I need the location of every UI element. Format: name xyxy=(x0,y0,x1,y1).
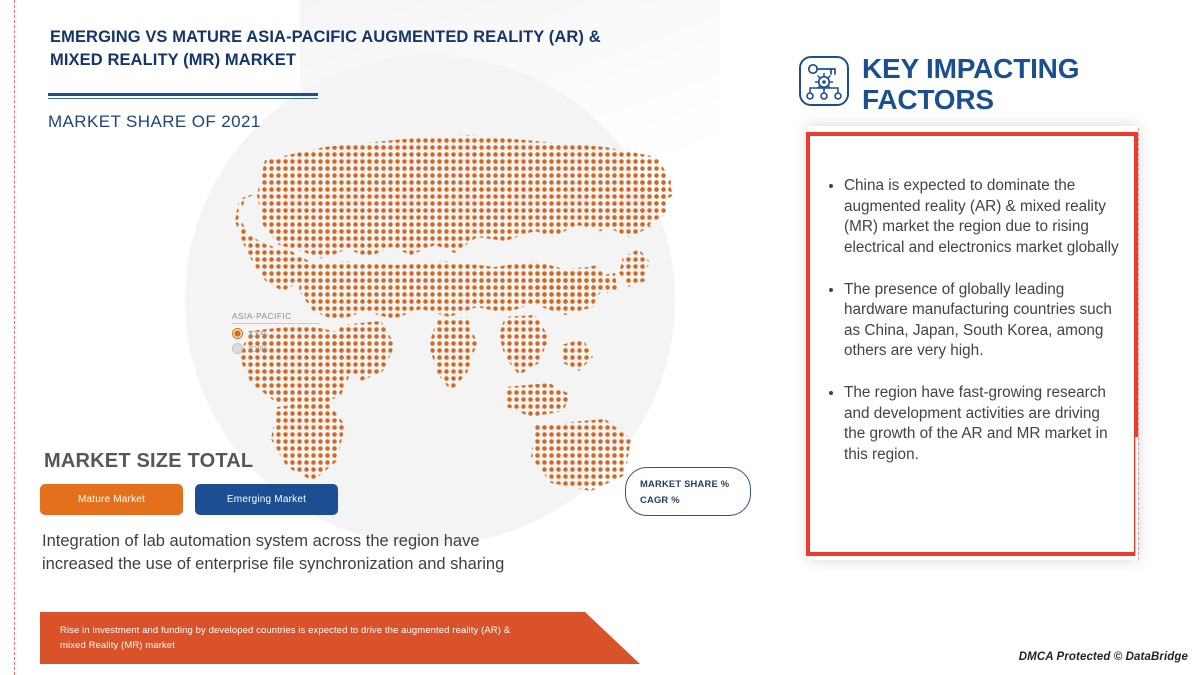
dmca-notice: DMCA Protected © DataBridge xyxy=(1019,651,1188,663)
key-factors-list: China is expected to dominate the augmen… xyxy=(824,176,1124,487)
page-title: EMERGING VS MATURE ASIA-PACIFIC AUGMENTE… xyxy=(50,26,620,73)
key-impacting-factors-title: KEY IMPACTING FACTORS xyxy=(862,54,1152,116)
map-legend: ASIA-PACIFIC XX% XX% xyxy=(232,312,320,354)
body-paragraph: Integration of lab automation system acr… xyxy=(42,530,552,577)
market-size-total-label: MARKET SIZE TOTAL xyxy=(44,450,253,473)
map-legend-row-mature: XX% xyxy=(232,328,320,339)
highlight-ribbon: Rise in investment and funding by develo… xyxy=(40,612,640,664)
map-legend-row-emerging: XX% xyxy=(232,343,320,354)
list-item: The presence of globally leading hardwar… xyxy=(844,280,1124,363)
map-legend-value-mature: XX% xyxy=(248,329,268,339)
emerging-market-swatch-icon xyxy=(232,343,243,354)
metric-callout-line1: MARKET SHARE % xyxy=(640,476,750,492)
dashed-frame-left xyxy=(14,0,15,675)
dotted-world-map xyxy=(205,95,675,495)
list-item: The region have fast-growing research an… xyxy=(844,383,1124,466)
pill-emerging-market[interactable]: Emerging Market xyxy=(195,484,338,515)
pill-mature-market[interactable]: Mature Market xyxy=(40,484,183,515)
market-type-pills: Mature Market Emerging Market xyxy=(40,484,338,515)
key-impacting-factors-icon xyxy=(798,55,850,107)
mature-market-swatch-icon xyxy=(232,328,243,339)
ribbon-text: Rise in investment and funding by develo… xyxy=(60,624,520,653)
map-legend-title: ASIA-PACIFIC xyxy=(232,312,320,324)
world-map-dots-svg xyxy=(205,95,675,495)
map-legend-value-emerging: XX% xyxy=(248,344,268,354)
metric-callout: MARKET SHARE % CAGR % xyxy=(625,467,751,516)
infographic-canvas: EMERGING VS MATURE ASIA-PACIFIC AUGMENTE… xyxy=(0,0,1200,675)
list-item: China is expected to dominate the augmen… xyxy=(844,176,1124,259)
key-gear-network-icon xyxy=(798,55,850,107)
dashed-frame-right xyxy=(1138,128,1139,560)
metric-callout-line2: CAGR % xyxy=(640,492,750,508)
